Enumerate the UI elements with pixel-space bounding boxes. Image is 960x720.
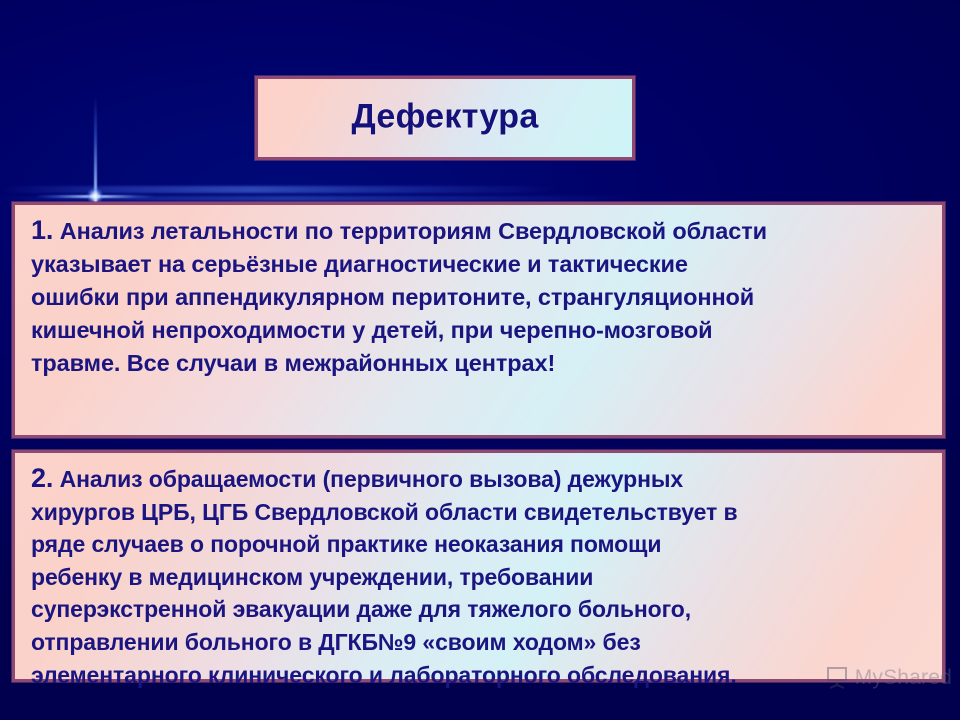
sparkle-horizontal-ray: [35, 195, 155, 198]
slide-canvas: Дефектура 1. Анализ летальности по терри…: [0, 0, 960, 720]
content-number-2: 2.: [31, 463, 53, 493]
background-light-band-upper: [0, 186, 560, 193]
content-text-1: Анализ летальности по территориям Свердл…: [31, 218, 767, 376]
content-text-2: Анализ обращаемости (первичного вызова) …: [31, 466, 738, 688]
content-box-1: 1. Анализ летальности по территориям Све…: [12, 202, 945, 438]
content-box-2: 2. Анализ обращаемости (первичного вызов…: [12, 450, 945, 682]
background-light-band-lower: [0, 196, 640, 201]
content-number-1: 1.: [31, 215, 53, 245]
content-paragraph-2: 2. Анализ обращаемости (первичного вызов…: [31, 462, 928, 691]
content-paragraph-1: 1. Анализ летальности по территориям Све…: [31, 214, 928, 380]
slide-title-box: Дефектура: [255, 76, 635, 160]
page-title: Дефектура: [258, 98, 632, 137]
